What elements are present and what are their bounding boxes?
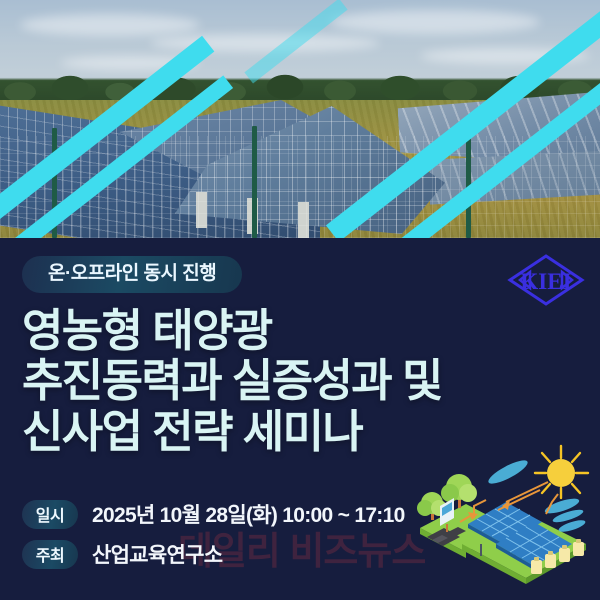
sun-icon bbox=[535, 446, 588, 498]
info-block: 일시 2025년 10월 28일(화) 10:00 ~ 17:10 주최 산업교… bbox=[22, 494, 405, 574]
badge-row: 온·오프라인 동시 진행 bbox=[22, 256, 242, 293]
kiei-logo: KIEI bbox=[506, 252, 586, 308]
info-value-host: 산업교육연구소 bbox=[92, 539, 222, 569]
online-offline-badge: 온·오프라인 동시 진행 bbox=[22, 256, 242, 293]
info-row-host: 주최 산업교육연구소 bbox=[22, 534, 405, 574]
fence-post bbox=[252, 126, 257, 238]
page-title: 영농형 태양광 추진동력과 실증성과 및 신사업 전략 세미나 bbox=[22, 306, 442, 457]
agrivoltaic-illustration bbox=[410, 440, 600, 600]
hero-photo bbox=[0, 0, 600, 238]
content-panel: 온·오프라인 동시 진행 KIEI 영농형 태양광 추진동력과 실증성과 및 신… bbox=[0, 238, 600, 600]
title-line-1: 영농형 태양광 bbox=[22, 306, 442, 356]
info-tag-host: 주최 bbox=[22, 540, 78, 569]
info-tag-date: 일시 bbox=[22, 500, 78, 529]
title-line-3: 신사업 전략 세미나 bbox=[22, 407, 442, 457]
logo-text: KIEI bbox=[520, 269, 571, 294]
title-line-2: 추진동력과 실증성과 및 bbox=[22, 356, 442, 406]
info-value-date: 2025년 10월 28일(화) 10:00 ~ 17:10 bbox=[92, 499, 405, 529]
cloud bbox=[20, 14, 200, 36]
info-row-date: 일시 2025년 10월 28일(화) 10:00 ~ 17:10 bbox=[22, 494, 405, 534]
seminar-poster: 온·오프라인 동시 진행 KIEI 영농형 태양광 추진동력과 실증성과 및 신… bbox=[0, 0, 600, 600]
cloud bbox=[330, 10, 540, 34]
